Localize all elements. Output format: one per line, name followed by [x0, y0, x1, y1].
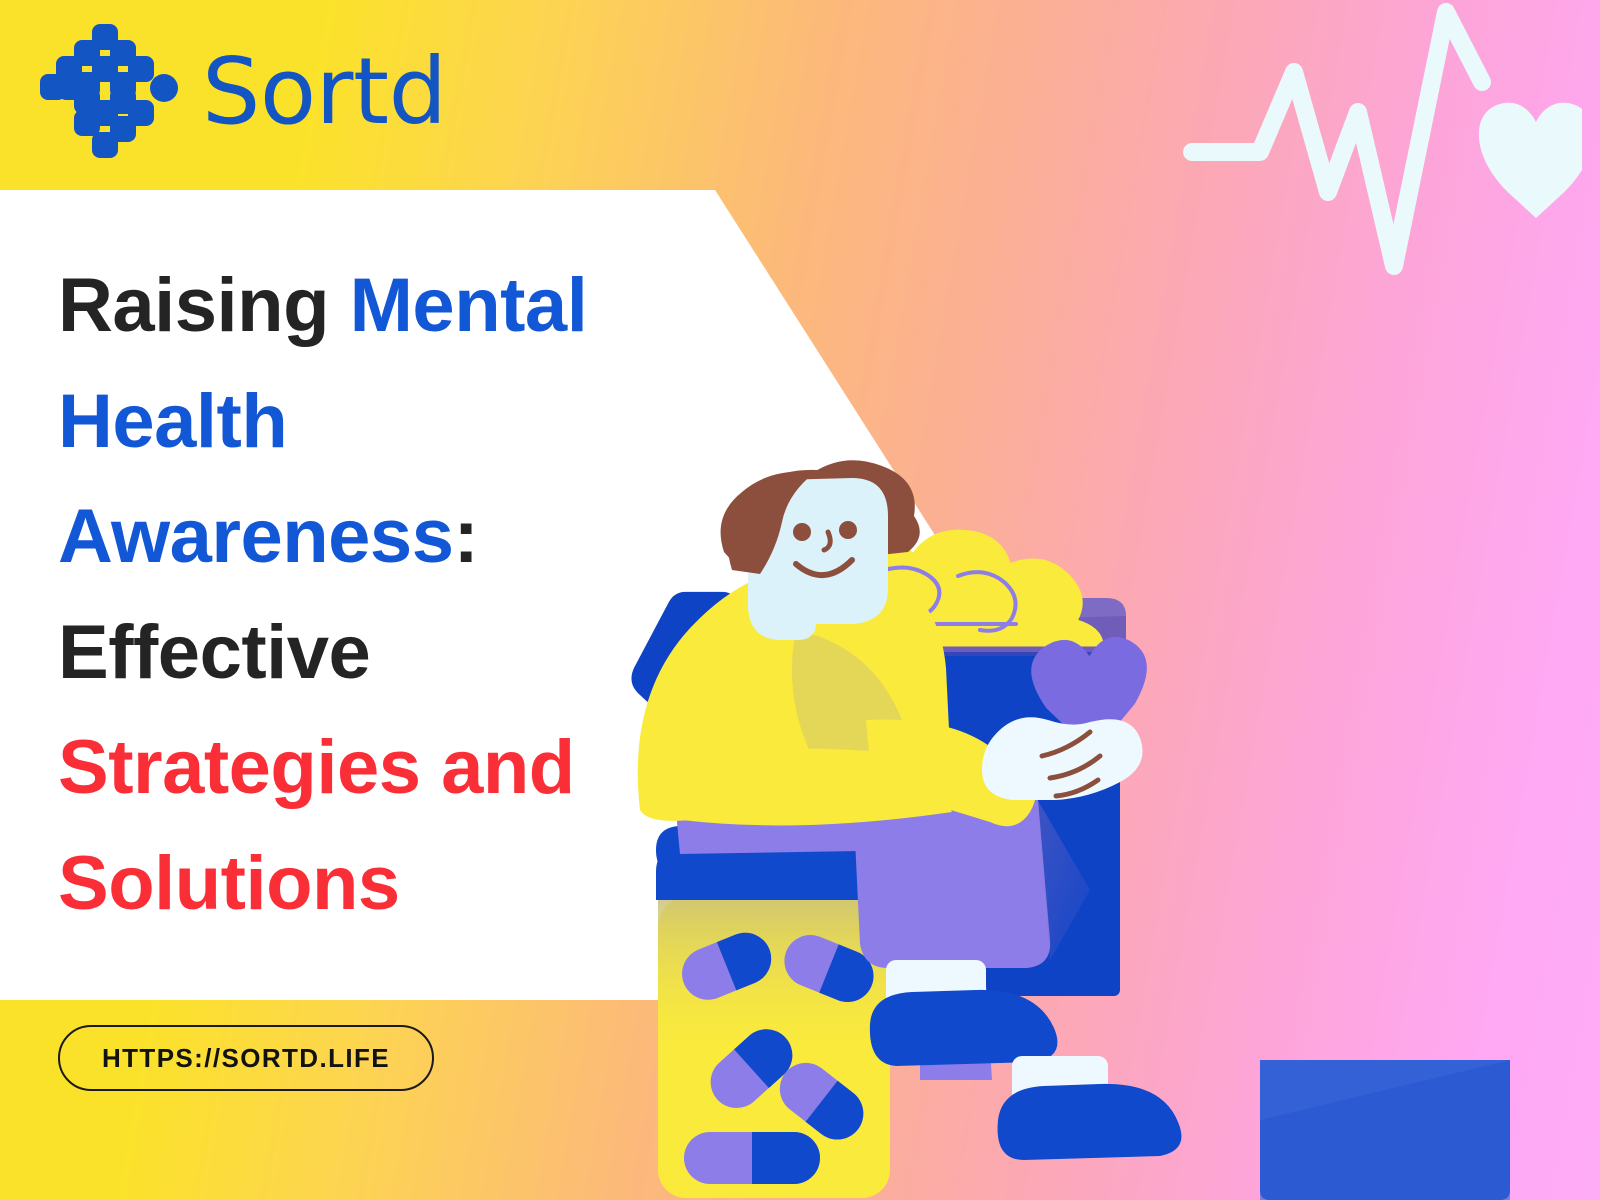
- brand-logo[interactable]: Sortd: [38, 22, 446, 162]
- title-part-health: Health: [58, 379, 287, 464]
- heartbeat-pulse-icon: [1182, 0, 1582, 280]
- sortd-pixel-s-logo-icon: [38, 22, 184, 162]
- title-part-strategies: Strategies and: [58, 725, 575, 810]
- brand-name: Sortd: [202, 46, 446, 138]
- illustration-group: [620, 420, 1600, 1200]
- mental-health-illustration: [620, 420, 1600, 1200]
- title-part-effective: Effective: [58, 610, 370, 695]
- title-part-solutions: Solutions: [58, 841, 400, 926]
- title-part-raising: Raising: [58, 263, 350, 348]
- promo-banner: Sortd Raising Mental Health Awareness: E…: [0, 0, 1600, 1200]
- website-url-label: HTTPS://SORTD.LIFE: [102, 1043, 390, 1074]
- shoe: [998, 1056, 1182, 1160]
- title-part-colon: :: [453, 494, 478, 579]
- eye: [793, 523, 811, 541]
- page-title: Raising Mental Health Awareness: Effecti…: [58, 248, 698, 941]
- title-part-mental: Mental: [350, 263, 588, 348]
- website-url-pill[interactable]: HTTPS://SORTD.LIFE: [58, 1025, 434, 1091]
- heart-icon: [1479, 103, 1582, 218]
- eye: [839, 521, 857, 539]
- title-part-awareness: Awareness: [58, 494, 453, 579]
